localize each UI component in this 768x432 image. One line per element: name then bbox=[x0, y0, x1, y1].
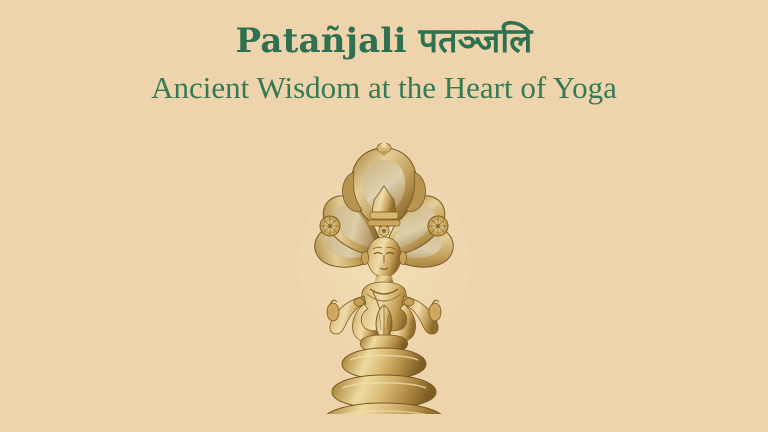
patanjali-statue-illustration bbox=[284, 142, 484, 414]
patanjali-statue-image bbox=[284, 142, 484, 414]
poster-canvas: Patañjali पतञ्जलि Ancient Wisdom at the … bbox=[0, 0, 768, 432]
coiled-serpent-body bbox=[314, 335, 454, 414]
header: Patañjali पतञ्जलि Ancient Wisdom at the … bbox=[0, 0, 768, 106]
chakra-disc-right bbox=[428, 216, 448, 236]
page-subtitle: Ancient Wisdom at the Heart of Yoga bbox=[0, 61, 768, 106]
chakra-disc-left bbox=[320, 216, 340, 236]
page-title: Patañjali पतञ्जलि bbox=[0, 0, 768, 61]
